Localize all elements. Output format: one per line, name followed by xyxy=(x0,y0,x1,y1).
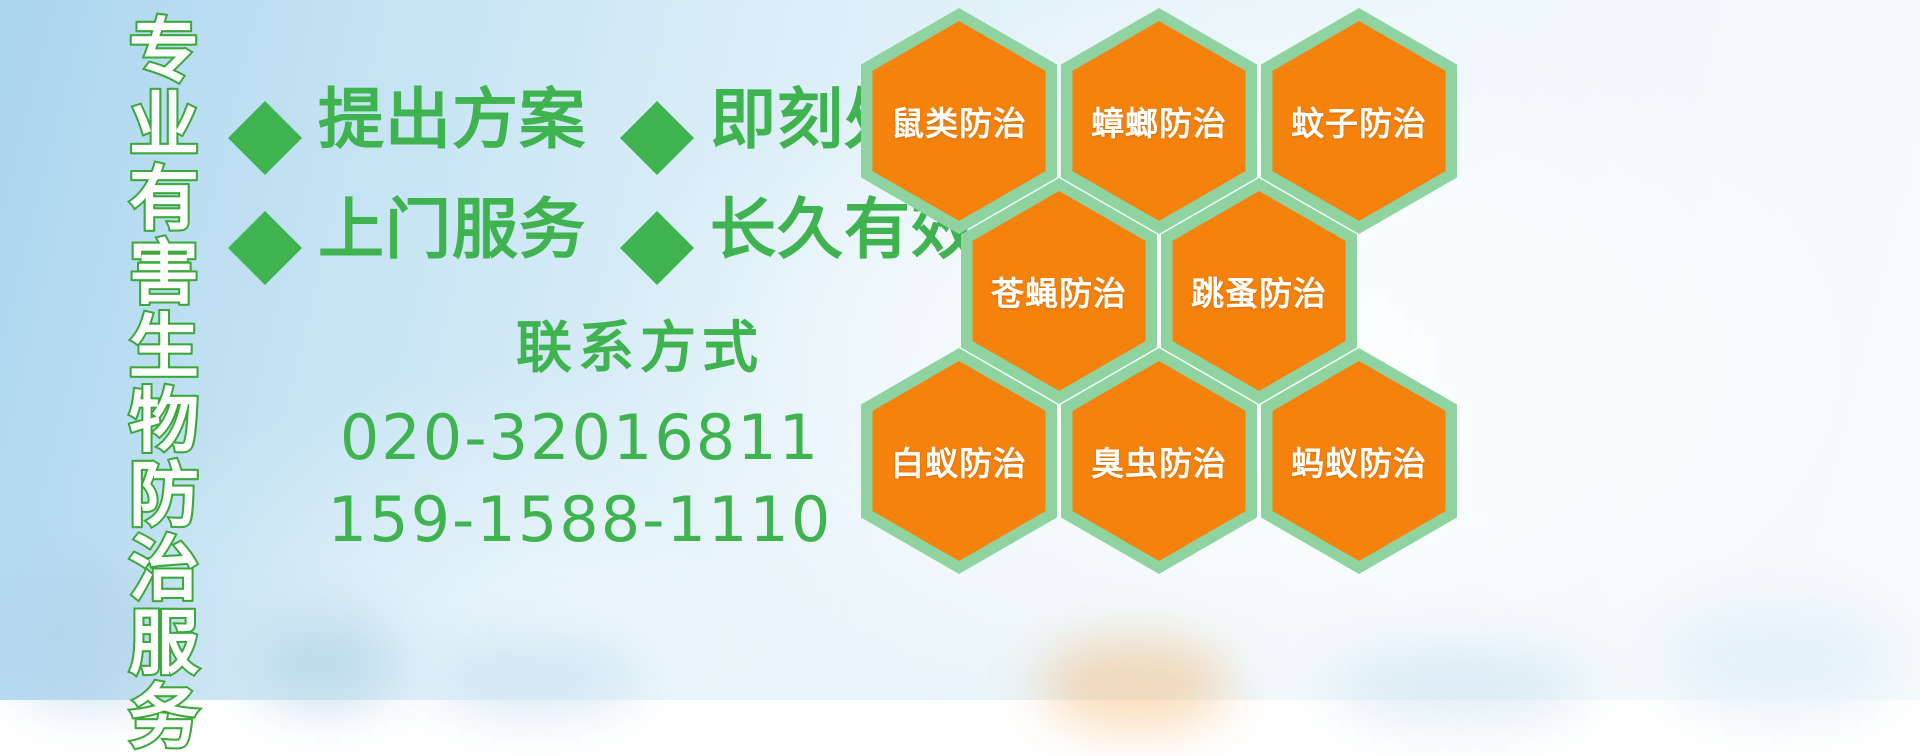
feature-label: 上门服务 xyxy=(318,192,586,266)
diamond-icon xyxy=(228,64,302,138)
vertical-headline-char: 害 xyxy=(129,236,199,310)
feature-item: 提出方案 xyxy=(228,82,586,156)
service-hex-label: 白蚁防治 xyxy=(861,348,1057,574)
promo-banner: 专 业 有 害 生 物 防 治 服 务 提出方案 即刻处理 上门服务 长久有效 xyxy=(0,0,1920,700)
contact-block: 联系方式 020-32016811 159-1588-1110 xyxy=(300,315,860,561)
background-blur-blob xyxy=(250,618,400,708)
service-hex-ant[interactable]: 蚂蚁防治 xyxy=(1261,348,1457,574)
phone-number-mobile[interactable]: 159-1588-1110 xyxy=(300,479,860,561)
vertical-headline-char: 治 xyxy=(129,532,199,606)
feature-label: 提出方案 xyxy=(318,82,586,156)
service-hex-bedbug[interactable]: 臭虫防治 xyxy=(1061,348,1257,574)
service-hexagon-grid: 鼠类防治 蟑螂防治 蚊子防治 苍蝇防治 跳蚤防治 白蚁防治 xyxy=(855,0,1475,560)
phone-number-landline[interactable]: 020-32016811 xyxy=(300,397,860,479)
vertical-headline-char: 服 xyxy=(129,606,199,680)
contact-title: 联系方式 xyxy=(300,315,860,381)
vertical-headline: 专 业 有 害 生 物 防 治 服 务 xyxy=(112,14,216,686)
vertical-headline-char: 生 xyxy=(129,310,199,384)
service-hex-label: 蚂蚁防治 xyxy=(1261,348,1457,574)
diamond-icon xyxy=(620,64,694,138)
background-blur-blob xyxy=(1660,600,1900,720)
vertical-headline-char: 物 xyxy=(129,384,199,458)
vertical-headline-char: 有 xyxy=(129,162,199,236)
background-blur-blob xyxy=(430,636,640,716)
diamond-icon xyxy=(620,174,694,248)
feature-item: 上门服务 xyxy=(228,192,586,266)
vertical-headline-char: 专 xyxy=(129,14,199,88)
background-blur-blob xyxy=(1040,640,1230,730)
vertical-headline-char: 防 xyxy=(129,458,199,532)
diamond-icon xyxy=(228,174,302,248)
vertical-headline-char: 业 xyxy=(129,88,199,162)
vertical-headline-char: 务 xyxy=(129,680,199,754)
service-hex-termite[interactable]: 白蚁防治 xyxy=(861,348,1057,574)
background-blur-blob xyxy=(1330,646,1590,726)
service-hex-label: 臭虫防治 xyxy=(1061,348,1257,574)
